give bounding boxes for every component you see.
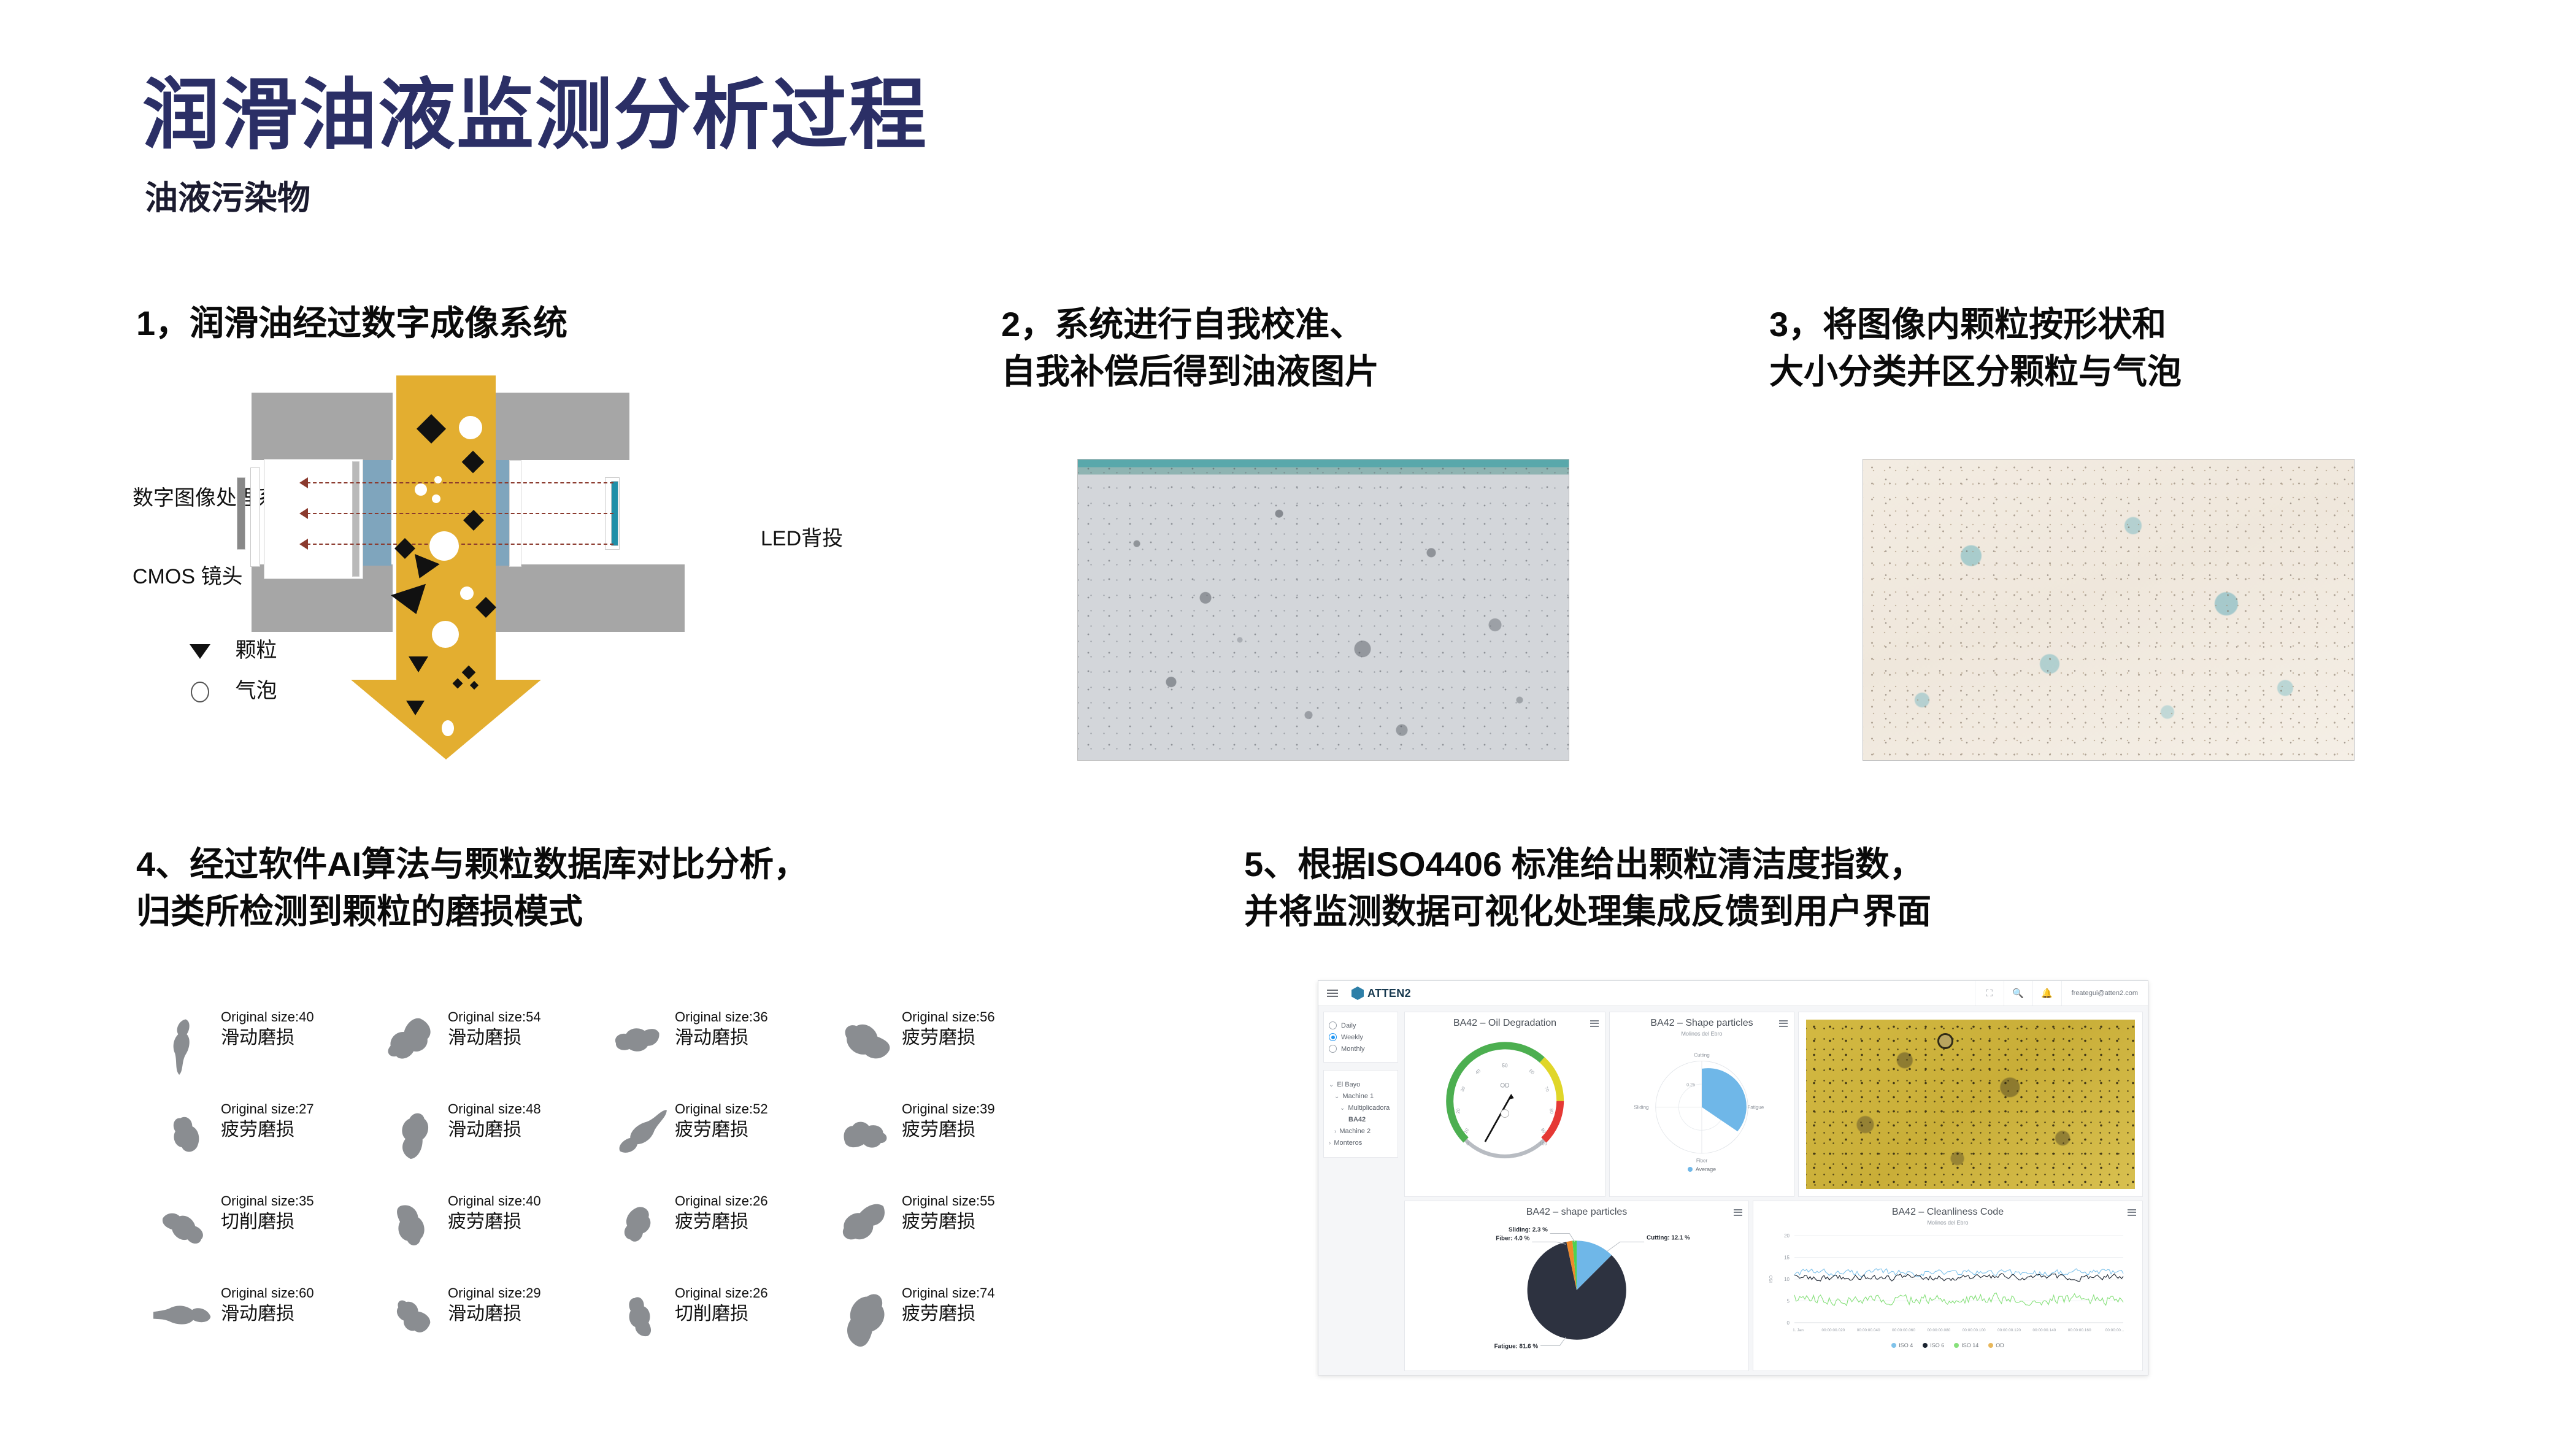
housing-block-bottom-right bbox=[488, 564, 685, 632]
particle-wear-mode: 疲劳磨损 bbox=[675, 1118, 768, 1142]
svg-text:1. Jan: 1. Jan bbox=[1793, 1328, 1804, 1333]
particle-wear-mode: 疲劳磨损 bbox=[902, 1302, 995, 1326]
pie-label-sliding: Sliding: 2.3 % bbox=[1509, 1227, 1548, 1234]
particle-blob-icon bbox=[153, 1097, 215, 1171]
particle-text: Original size:27疲劳磨损 bbox=[221, 1101, 314, 1142]
period-option-label: Daily bbox=[1341, 1022, 1356, 1029]
particle-blob-icon bbox=[607, 1097, 669, 1171]
card-menu-icon[interactable] bbox=[1590, 1018, 1599, 1028]
legend-item[interactable]: OD bbox=[1988, 1342, 2004, 1348]
svg-text:00:00:00.060: 00:00:00.060 bbox=[1892, 1328, 1915, 1333]
period-option[interactable]: Monthly bbox=[1329, 1045, 1393, 1053]
particle-blob-icon bbox=[834, 1189, 896, 1263]
light-ray-arrow-3 bbox=[299, 539, 308, 550]
light-ray-1 bbox=[307, 482, 613, 483]
particle-card: Original size:35切削磨损 bbox=[153, 1184, 380, 1276]
label-cmos-lens: CMOS 镜头 bbox=[133, 560, 242, 590]
legend-label: OD bbox=[1996, 1342, 2004, 1348]
legend-particle-label: 颗粒 bbox=[235, 633, 277, 663]
particle-wear-mode: 疲劳磨损 bbox=[448, 1210, 541, 1234]
particle-original-size: Original size:54 bbox=[448, 1009, 541, 1026]
user-email[interactable]: freategui@atten2.com bbox=[2061, 981, 2148, 1006]
particle-original-size: Original size:40 bbox=[448, 1193, 541, 1210]
bubble-shape bbox=[460, 586, 474, 600]
bubble-shape bbox=[459, 416, 482, 439]
particle-text: Original size:48滑动磨损 bbox=[448, 1101, 541, 1142]
tree-node-label: Machine 1 bbox=[1342, 1093, 1374, 1100]
chevron-right-icon[interactable]: › bbox=[1329, 1140, 1331, 1147]
light-ray-3 bbox=[307, 544, 613, 545]
tree-node[interactable]: ⌄Machine 1 bbox=[1329, 1093, 1393, 1100]
step-5-heading: 5、根据ISO4406 标准给出颗粒清洁度指数， 并将监测数据可视化处理集成反馈… bbox=[1244, 840, 1931, 936]
particle-wear-mode: 疲劳磨损 bbox=[902, 1118, 995, 1142]
period-option[interactable]: Daily bbox=[1329, 1021, 1393, 1029]
particle-original-size: Original size:52 bbox=[675, 1101, 768, 1118]
card-subtitle: Molinos del Ebro bbox=[1753, 1220, 2142, 1226]
card-subtitle: Molinos del Ebro bbox=[1610, 1031, 1794, 1037]
hexagon-logo-icon bbox=[1351, 986, 1364, 1000]
svg-text:00:00:00.080: 00:00:00.080 bbox=[1927, 1328, 1950, 1333]
oil-image-raw-texture bbox=[1078, 460, 1569, 760]
tree-node[interactable]: ›Monteros bbox=[1329, 1139, 1393, 1147]
oil-image-raw bbox=[1077, 459, 1569, 761]
search-icon[interactable]: 🔍 bbox=[2004, 981, 2032, 1006]
legend-item[interactable]: ISO 14 bbox=[1954, 1342, 1978, 1348]
svg-text:Fatigue: Fatigue bbox=[1747, 1104, 1764, 1110]
particle-classification-grid: Original size:40滑动磨损Original size:54滑动磨损… bbox=[153, 1000, 1061, 1368]
particle-text: Original size:54滑动磨损 bbox=[448, 1009, 541, 1050]
svg-text:80: 80 bbox=[1548, 1109, 1555, 1114]
page-title: 润滑油液监测分析过程 bbox=[142, 75, 928, 156]
tree-node[interactable]: ⌄El Bayo bbox=[1329, 1081, 1393, 1088]
polar-legend: Average bbox=[1610, 1166, 1794, 1172]
polar-chart: Cutting Fatigue Fiber Sliding 0.25 bbox=[1610, 1037, 1794, 1169]
particle-text: Original size:39疲劳磨损 bbox=[902, 1101, 995, 1142]
tree-node-label: Multiplicadora bbox=[1348, 1104, 1390, 1112]
particle-blob-icon bbox=[380, 1005, 442, 1079]
card-title: BA42 – Shape particles bbox=[1610, 1018, 1794, 1029]
particle-wear-mode: 疲劳磨损 bbox=[221, 1118, 314, 1142]
fullscreen-icon[interactable]: ⛶ bbox=[1975, 981, 2004, 1006]
particle-blob-icon bbox=[834, 1097, 896, 1171]
radio-icon[interactable] bbox=[1329, 1033, 1337, 1041]
particle-text: Original size:74疲劳磨损 bbox=[902, 1285, 995, 1326]
card-shape-particles-polar[interactable]: BA42 – Shape particles Molinos del Ebro … bbox=[1609, 1012, 1794, 1197]
svg-text:00:00:00.100: 00:00:00.100 bbox=[1963, 1328, 1986, 1333]
period-option[interactable]: Weekly bbox=[1329, 1033, 1393, 1041]
atten2-dashboard-screenshot: ATTEN2 ⛶ 🔍 🔔 freategui@atten2.com DailyW… bbox=[1318, 980, 2148, 1375]
particle-wear-mode: 滑动磨损 bbox=[448, 1026, 541, 1050]
pie-label-fiber: Fiber: 4.0 % bbox=[1496, 1235, 1529, 1242]
tree-node-label: BA42 bbox=[1348, 1116, 1366, 1123]
svg-text:00:00:00...: 00:00:00... bbox=[2105, 1328, 2124, 1333]
oil-microscope-texture bbox=[1806, 1020, 2135, 1189]
bubble-shape bbox=[432, 621, 459, 648]
legend-label: ISO 6 bbox=[1930, 1342, 1944, 1348]
svg-text:00:00:00.120: 00:00:00.120 bbox=[1997, 1328, 2021, 1333]
particle-card: Original size:56疲劳磨损 bbox=[834, 1000, 1061, 1092]
hamburger-menu-icon[interactable] bbox=[1327, 988, 1338, 999]
particle-original-size: Original size:60 bbox=[221, 1285, 314, 1302]
particle-text: Original size:56疲劳磨损 bbox=[902, 1009, 995, 1050]
svg-text:30: 30 bbox=[1459, 1086, 1467, 1093]
light-ray-arrow-1 bbox=[299, 477, 308, 488]
legend-particle: 颗粒 bbox=[184, 633, 277, 663]
svg-text:5: 5 bbox=[1787, 1299, 1790, 1304]
card-oil-microscope-image[interactable] bbox=[1798, 1012, 2143, 1197]
light-ray-arrow-2 bbox=[299, 508, 308, 519]
svg-text:00:00:00.160: 00:00:00.160 bbox=[2068, 1328, 2091, 1333]
particle-original-size: Original size:36 bbox=[675, 1009, 768, 1026]
particle-original-size: Original size:40 bbox=[221, 1009, 314, 1026]
card-menu-icon[interactable] bbox=[1734, 1207, 1742, 1217]
legend-label: Average bbox=[1696, 1166, 1716, 1172]
legend-swatch bbox=[1954, 1343, 1959, 1348]
particle-original-size: Original size:27 bbox=[221, 1101, 314, 1118]
page-subtitle: 油液污染物 bbox=[145, 171, 310, 219]
svg-text:OD: OD bbox=[1500, 1083, 1509, 1090]
particle-wear-mode: 滑动磨损 bbox=[448, 1302, 541, 1326]
particle-text: Original size:29滑动磨损 bbox=[448, 1285, 541, 1326]
particle-shape bbox=[406, 701, 425, 715]
particle-card: Original size:29滑动磨损 bbox=[380, 1276, 607, 1368]
particle-blob-icon bbox=[153, 1005, 215, 1079]
particle-blob-icon bbox=[380, 1097, 442, 1171]
card-cleanliness-code[interactable]: BA42 – Cleanliness Code Molinos del Ebro… bbox=[1753, 1201, 2143, 1371]
line-chart: 05101520ISO1. Jan00:00:00.02000:00:00.04… bbox=[1753, 1226, 2142, 1346]
step-2-heading: 2，系统进行自我校准、 自我补偿后得到油液图片 bbox=[1001, 301, 1379, 396]
card-menu-icon[interactable] bbox=[1779, 1018, 1788, 1028]
particle-card: Original size:60滑动磨损 bbox=[153, 1276, 380, 1368]
legend-swatch bbox=[1923, 1343, 1928, 1348]
svg-text:0: 0 bbox=[1787, 1320, 1790, 1326]
brand-name: ATTEN2 bbox=[1367, 987, 1411, 1000]
housing-block-top-right bbox=[488, 393, 629, 460]
legend-bubble: 气泡 bbox=[184, 674, 277, 704]
slide-root: 润滑油液监测分析过程 油液污染物 1，润滑油经过数字成像系统 数字图像处理系统 … bbox=[0, 0, 2576, 1446]
svg-text:00:00:00.020: 00:00:00.020 bbox=[1821, 1328, 1845, 1333]
chevron-down-icon[interactable]: ⌄ bbox=[1329, 1082, 1334, 1088]
card-title: BA42 – Oil Degradation bbox=[1405, 1018, 1605, 1029]
legend-bubble-label: 气泡 bbox=[235, 674, 277, 704]
particle-card: Original size:54滑动磨损 bbox=[380, 1000, 607, 1092]
atten2-logo[interactable]: ATTEN2 bbox=[1351, 986, 1411, 1000]
legend-item[interactable]: ISO 6 bbox=[1923, 1342, 1944, 1348]
legend-label: ISO 4 bbox=[1899, 1342, 1913, 1348]
svg-text:00:00:00.140: 00:00:00.140 bbox=[2032, 1328, 2056, 1333]
particle-wear-mode: 疲劳磨损 bbox=[902, 1210, 995, 1234]
particle-card: Original size:27疲劳磨损 bbox=[153, 1092, 380, 1184]
particle-original-size: Original size:35 bbox=[221, 1193, 314, 1210]
particle-wear-mode: 切削磨损 bbox=[221, 1210, 314, 1234]
step-1-heading: 1，润滑油经过数字成像系统 bbox=[136, 299, 567, 347]
particle-wear-mode: 滑动磨损 bbox=[221, 1026, 314, 1050]
card-menu-icon[interactable] bbox=[2128, 1207, 2136, 1217]
legend-swatch bbox=[1988, 1343, 1993, 1348]
card-shape-particles-pie[interactable]: BA42 – shape particles Cutting: 12.1 % S… bbox=[1404, 1201, 1749, 1371]
cmos-sensor-plate bbox=[250, 467, 260, 567]
particle-original-size: Original size:26 bbox=[675, 1285, 768, 1302]
bubble-shape bbox=[442, 720, 454, 736]
tree-node[interactable]: ⌄Multiplicadora bbox=[1329, 1104, 1393, 1112]
bell-icon[interactable]: 🔔 bbox=[2032, 981, 2061, 1006]
particle-blob-icon bbox=[834, 1281, 896, 1355]
particle-card: Original size:40滑动磨损 bbox=[153, 1000, 380, 1092]
svg-text:00:00:00.040: 00:00:00.040 bbox=[1857, 1328, 1880, 1333]
particle-wear-mode: 切削磨损 bbox=[675, 1302, 768, 1326]
label-led-backlight: LED背投 bbox=[761, 521, 843, 552]
imaging-system-diagram: 数字图像处理系统 CMOS 镜头 LED背投 颗粒 气泡 bbox=[110, 368, 859, 761]
oil-microscope-image bbox=[1806, 1020, 2135, 1189]
circle-icon bbox=[184, 679, 216, 703]
particle-wear-mode: 滑动磨损 bbox=[448, 1118, 541, 1142]
particle-card: Original size:39疲劳磨损 bbox=[834, 1092, 1061, 1184]
particle-text: Original size:60滑动磨损 bbox=[221, 1285, 314, 1326]
cmos-sensor-edge bbox=[237, 477, 245, 550]
svg-text:Sliding: Sliding bbox=[1634, 1104, 1648, 1110]
gauge-chart: 50 OD 40 60 30 70 20 80 10 90 0 100 bbox=[1405, 1029, 1605, 1170]
particle-blob-icon bbox=[153, 1189, 215, 1263]
particle-text: Original size:52疲劳磨损 bbox=[675, 1101, 768, 1142]
card-title: BA42 – Cleanliness Code bbox=[1753, 1207, 2142, 1218]
pie-chart: Cutting: 12.1 % Sliding: 2.3 % Fiber: 4.… bbox=[1405, 1218, 1748, 1358]
svg-text:0.25: 0.25 bbox=[1686, 1083, 1695, 1088]
dashboard-sidebar: DailyWeeklyMonthly ⌄El Bayo⌄Machine 1⌄Mu… bbox=[1323, 1012, 1398, 1158]
particle-original-size: Original size:48 bbox=[448, 1101, 541, 1118]
svg-text:10: 10 bbox=[1784, 1277, 1790, 1282]
period-selector: DailyWeeklyMonthly bbox=[1323, 1012, 1398, 1063]
chevron-down-icon[interactable]: ⌄ bbox=[1340, 1105, 1345, 1112]
asset-tree: ⌄El Bayo⌄Machine 1⌄MultiplicadoraBA42›Ma… bbox=[1323, 1070, 1398, 1158]
particle-card: Original size:26切削磨损 bbox=[607, 1276, 834, 1368]
cmos-lens-element bbox=[352, 461, 359, 577]
tree-node[interactable]: ›Machine 2 bbox=[1329, 1128, 1393, 1135]
svg-text:40: 40 bbox=[1474, 1068, 1482, 1075]
svg-text:60: 60 bbox=[1528, 1068, 1536, 1075]
legend-swatch bbox=[1891, 1343, 1896, 1348]
bubble-shape bbox=[429, 531, 459, 561]
tree-node-label: Machine 2 bbox=[1339, 1128, 1371, 1135]
bubble-shape bbox=[432, 494, 440, 503]
svg-text:ISO: ISO bbox=[1769, 1275, 1774, 1283]
particle-text: Original size:26疲劳磨损 bbox=[675, 1193, 768, 1234]
svg-text:Cutting: Cutting bbox=[1694, 1052, 1710, 1058]
chevron-down-icon[interactable]: ⌄ bbox=[1334, 1093, 1339, 1100]
tree-node-label: Monteros bbox=[1334, 1139, 1362, 1147]
legend-label: ISO 14 bbox=[1961, 1342, 1978, 1348]
svg-text:Fiber: Fiber bbox=[1696, 1158, 1708, 1163]
particle-original-size: Original size:56 bbox=[902, 1009, 995, 1026]
particle-card: Original size:26疲劳磨损 bbox=[607, 1184, 834, 1276]
housing-block-top-left bbox=[252, 393, 393, 460]
particle-blob-icon bbox=[607, 1189, 669, 1263]
particle-card: Original size:48滑动磨损 bbox=[380, 1092, 607, 1184]
particle-card: Original size:74疲劳磨损 bbox=[834, 1276, 1061, 1368]
particle-wear-mode: 疲劳磨损 bbox=[675, 1210, 768, 1234]
particle-card: Original size:52疲劳磨损 bbox=[607, 1092, 834, 1184]
particle-original-size: Original size:26 bbox=[675, 1193, 768, 1210]
particle-wear-mode: 滑动磨损 bbox=[221, 1302, 314, 1326]
particle-original-size: Original size:29 bbox=[448, 1285, 541, 1302]
particle-card: Original size:40疲劳磨损 bbox=[380, 1184, 607, 1276]
particle-text: Original size:55疲劳磨损 bbox=[902, 1193, 995, 1234]
svg-text:50: 50 bbox=[1502, 1063, 1508, 1069]
oil-image-classified-texture bbox=[1863, 460, 2354, 760]
svg-text:20: 20 bbox=[1784, 1233, 1790, 1239]
particle-blob-icon bbox=[153, 1281, 215, 1355]
period-option-label: Monthly bbox=[1341, 1045, 1365, 1053]
line-chart-legend: ISO 4ISO 6ISO 14OD bbox=[1753, 1342, 2142, 1348]
topbar-actions: ⛶ 🔍 🔔 freategui@atten2.com bbox=[1975, 981, 2148, 1006]
oil-flow-arrowhead bbox=[351, 680, 541, 760]
dashboard-topbar: ATTEN2 ⛶ 🔍 🔔 freategui@atten2.com bbox=[1318, 981, 2148, 1006]
particle-original-size: Original size:55 bbox=[902, 1193, 995, 1210]
legend-swatch bbox=[1688, 1167, 1693, 1172]
tree-node-label: El Bayo bbox=[1337, 1081, 1360, 1088]
tree-node[interactable]: BA42 bbox=[1329, 1116, 1393, 1123]
triangle-icon bbox=[184, 639, 216, 663]
step-3-heading: 3，将图像内颗粒按形状和 大小分类并区分颗粒与气泡 bbox=[1769, 301, 2182, 396]
particle-shape bbox=[409, 656, 428, 672]
particle-blob-icon bbox=[607, 1005, 669, 1079]
svg-text:100: 100 bbox=[1539, 1141, 1547, 1147]
particle-text: Original size:35切削磨损 bbox=[221, 1193, 314, 1234]
radio-icon[interactable] bbox=[1329, 1021, 1337, 1029]
chevron-right-icon[interactable]: › bbox=[1334, 1128, 1336, 1135]
svg-text:20: 20 bbox=[1455, 1109, 1461, 1114]
particle-text: Original size:40滑动磨损 bbox=[221, 1009, 314, 1050]
particle-wear-mode: 滑动磨损 bbox=[675, 1026, 768, 1050]
card-title: BA42 – shape particles bbox=[1405, 1207, 1748, 1218]
radio-icon[interactable] bbox=[1329, 1045, 1337, 1053]
cmos-sensor-body bbox=[264, 459, 363, 579]
bubble-shape bbox=[434, 476, 442, 483]
particle-blob-icon bbox=[834, 1005, 896, 1079]
particle-card: Original size:36滑动磨损 bbox=[607, 1000, 834, 1092]
step-4-heading: 4、经过软件AI算法与颗粒数据库对比分析， 归类所检测到颗粒的磨损模式 bbox=[136, 840, 808, 936]
pie-label-cutting: Cutting: 12.1 % bbox=[1647, 1234, 1690, 1241]
svg-text:0: 0 bbox=[1466, 1141, 1469, 1147]
light-ray-2 bbox=[307, 513, 613, 514]
particle-text: Original size:40疲劳磨损 bbox=[448, 1193, 541, 1234]
period-option-label: Weekly bbox=[1341, 1034, 1363, 1041]
svg-text:70: 70 bbox=[1544, 1086, 1551, 1093]
particle-blob-icon bbox=[380, 1281, 442, 1355]
particle-blob-icon bbox=[380, 1189, 442, 1263]
particle-text: Original size:26切削磨损 bbox=[675, 1285, 768, 1326]
particle-original-size: Original size:39 bbox=[902, 1101, 995, 1118]
pie-label-fatigue: Fatigue: 81.6 % bbox=[1494, 1343, 1539, 1350]
particle-text: Original size:36滑动磨损 bbox=[675, 1009, 768, 1050]
particle-blob-icon bbox=[607, 1281, 669, 1355]
particle-card: Original size:55疲劳磨损 bbox=[834, 1184, 1061, 1276]
card-oil-degradation[interactable]: BA42 – Oil Degradation 50 OD 40 60 30 70… bbox=[1404, 1012, 1605, 1197]
particle-wear-mode: 疲劳磨损 bbox=[902, 1026, 995, 1050]
legend-item[interactable]: ISO 4 bbox=[1891, 1342, 1913, 1348]
oil-image-classified bbox=[1863, 459, 2355, 761]
svg-text:15: 15 bbox=[1784, 1255, 1790, 1261]
bubble-shape bbox=[415, 483, 427, 496]
particle-original-size: Original size:74 bbox=[902, 1285, 995, 1302]
